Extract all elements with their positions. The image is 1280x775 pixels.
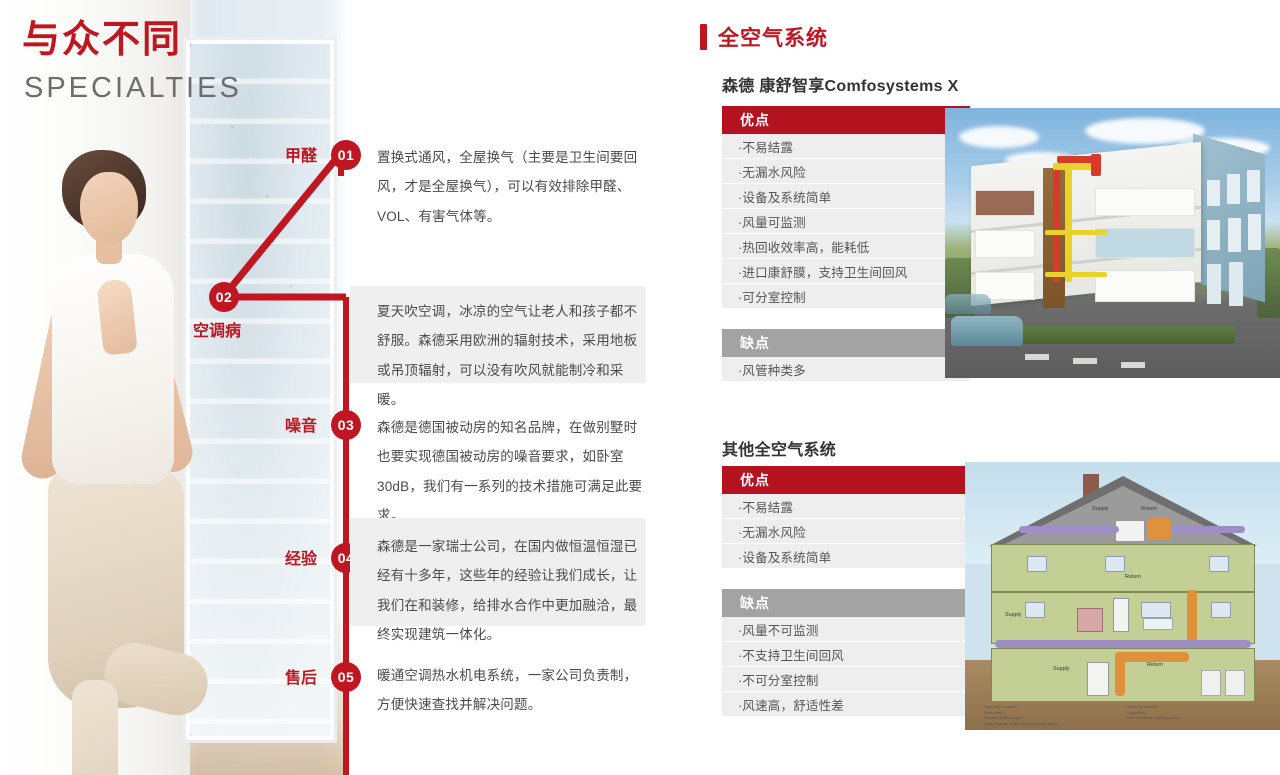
label-supply-attic: Supply — [1092, 506, 1108, 512]
parking-line — [1121, 362, 1145, 368]
section-title: 全空气系统 — [700, 22, 828, 52]
label-return-basement: Return — [1147, 662, 1163, 668]
page-title-zh: 与众不同 — [22, 20, 182, 62]
facade-window — [1227, 174, 1240, 204]
car — [951, 316, 1023, 346]
return-riser — [1187, 590, 1197, 644]
timeline-text-block-04: 森德是一家瑞士公司，在国内做恒温恒湿已经有十多年，这些年的经验让我们成长，让我们… — [350, 518, 645, 626]
cloud — [959, 126, 1039, 148]
building-cutaway-image — [945, 108, 1280, 378]
fireplace — [1077, 608, 1103, 632]
cons-header-1: 缺点 — [722, 329, 970, 357]
hedge — [1005, 326, 1235, 344]
sofa — [1143, 618, 1173, 630]
timeline-badge-02[interactable]: 02 — [209, 282, 239, 312]
pros-row: ·设备及系统简单 — [722, 184, 970, 209]
parking-line — [1073, 358, 1097, 364]
car — [945, 294, 991, 314]
left-pane: 与众不同 SPECIALTIES 01 甲醛 02 空调病 03 噪音 04 经… — [0, 0, 660, 775]
supply-duct — [1019, 526, 1119, 533]
parking-line — [1025, 354, 1049, 360]
label-supply-left: Supply — [1005, 612, 1021, 618]
pros-row: ·无漏水风险 — [722, 159, 970, 184]
pros-row: ·可分室控制 — [722, 284, 970, 309]
facade-window — [1207, 220, 1220, 250]
basement-supply-trunk — [995, 640, 1251, 648]
basement-return-trunk — [1115, 652, 1189, 662]
figure-leg — [72, 680, 118, 775]
facade-window — [1247, 170, 1260, 202]
timeline-label-01: 甲醛 — [285, 142, 317, 166]
timeline-text-block-01: 置换式通风，全屋换气（主要是卫生间要回风，才是全屋换气），可以有效排除甲醛、VO… — [350, 132, 645, 284]
window — [1209, 556, 1229, 572]
roof-unit — [1091, 154, 1101, 176]
pros-row: ·无漏水风险 — [722, 519, 968, 544]
room — [975, 230, 1035, 258]
exhaust-pipe-red — [1053, 170, 1060, 282]
right-pane: 全空气系统 森德 康舒智享Comfosystems X 优点 ·不易结露 ·无漏… — [660, 0, 1280, 775]
pros-row: ·不易结露 — [722, 134, 970, 159]
legend-column-left: Leaky duct connection Return leaks Furni… — [984, 705, 1119, 728]
pros-header-2: 优点 — [722, 466, 968, 494]
facade-window — [1207, 180, 1220, 206]
label-return-mid: Return — [1125, 574, 1141, 580]
timeline-label-04: 经验 — [285, 545, 317, 569]
table-other-systems: 优点 ·不易结露 ·无漏水风险 ·设备及系统简单 缺点 ·风量不可监测 ·不支持… — [722, 466, 968, 717]
cons-row: ·风管种类多 — [722, 357, 970, 382]
page-title-en: SPECIALTIES — [24, 72, 242, 105]
cons-row: ·风量不可监测 — [722, 617, 968, 642]
legend-column-right: Fallen duct insulation Supply leaks Kink… — [1127, 705, 1262, 728]
label-return-attic: Return — [1141, 506, 1157, 512]
appliance — [1201, 670, 1221, 696]
timeline-text-block-05: 暖通空调热水机电系统，一家公司负责制，方便快速查找并解决问题。 — [350, 655, 645, 725]
room — [975, 190, 1035, 216]
window — [1211, 602, 1231, 618]
air-handler-unit — [1115, 520, 1145, 542]
pros-row: ·热回收效率高，能耗低 — [722, 234, 970, 259]
timeline-text-block-03: 森德是德国被动房的知名品牌，在做别墅时也要实现德国被动房的噪音要求，如卧室30d… — [350, 402, 645, 506]
house-duct-diagram-image: Supply Return Return Supply Suppl — [965, 462, 1280, 730]
cons-row: ·不可分室控制 — [722, 667, 968, 692]
window — [1141, 602, 1171, 618]
window — [1105, 556, 1125, 572]
facade-window — [1229, 262, 1243, 306]
diagram-legend: Leaky duct connection Return leaks Furni… — [984, 705, 1261, 728]
room — [1095, 188, 1195, 216]
section-title-text: 全空气系统 — [718, 22, 828, 52]
table-gap — [722, 309, 970, 329]
timeline-label-05: 售后 — [285, 664, 317, 688]
pros-row: ·进口康舒膜，支持卫生间回风 — [722, 259, 970, 284]
window — [1025, 602, 1045, 618]
supply-branch — [1045, 272, 1107, 277]
appliance — [1225, 670, 1245, 696]
timeline-text-05: 暖通空调热水机电系统，一家公司负责制，方便快速查找并解决问题。 — [350, 655, 645, 720]
timeline-text-04: 森德是一家瑞士公司，在国内做恒温恒湿已经有十多年，这些年的经验让我们成长，让我们… — [350, 518, 645, 649]
pros-row: ·风量可监测 — [722, 209, 970, 234]
legend-item: Kinks in ductwork restricting airflow — [1127, 716, 1262, 722]
pros-row: ·设备及系统简单 — [722, 544, 968, 569]
timeline-text-02: 夏天吹空调，冰凉的空气让老人和孩子都不舒服。森德采用欧洲的辐射技术，采用地板或吊… — [350, 286, 645, 414]
timeline-label-03: 噪音 — [285, 412, 317, 436]
pros-header-1: 优点 — [722, 106, 970, 134]
window — [1027, 556, 1047, 572]
supply-branch — [1045, 230, 1107, 235]
timeline-text-01: 置换式通风，全屋换气（主要是卫生间要回风，才是全屋换气），可以有效排除甲醛、VO… — [350, 132, 645, 231]
table-gap — [722, 569, 968, 589]
accent-bar-icon — [700, 24, 707, 50]
timeline-text-03: 森德是德国被动房的知名品牌，在做别墅时也要实现德国被动房的噪音要求，如卧室30d… — [350, 402, 645, 530]
slide-root: 与众不同 SPECIALTIES 01 甲醛 02 空调病 03 噪音 04 经… — [0, 0, 1280, 775]
pros-row: ·不易结露 — [722, 494, 968, 519]
table-comfosystems: 优点 ·不易结露 ·无漏水风险 ·设备及系统简单 ·风量可监测 ·热回收效率高，… — [722, 106, 970, 382]
facade-window — [1248, 214, 1261, 250]
subtitle-other-systems: 其他全空气系统 — [722, 436, 836, 460]
cons-row: ·风速高，舒适性差 — [722, 692, 968, 717]
legend-item: Leaks at furnace & filter slot and duct … — [984, 722, 1119, 728]
cloud — [1085, 118, 1205, 144]
furnace — [1087, 662, 1109, 696]
timeline-text-block-02: 夏天吹空调，冰凉的空气让老人和孩子都不舒服。森德采用欧洲的辐射技术，采用地板或吊… — [350, 286, 645, 383]
label-supply-basement: Supply — [1053, 666, 1069, 672]
woman-figure — [18, 150, 248, 775]
yoga-photo — [0, 0, 348, 775]
facade-window — [1228, 218, 1241, 252]
room — [1095, 270, 1195, 302]
room — [1095, 228, 1195, 258]
subtitle-comfosystems: 森德 康舒智享Comfosystems X — [722, 72, 959, 96]
timeline-label-02: 空调病 — [193, 317, 241, 341]
door — [1113, 598, 1129, 632]
supply-pipe-yellow — [1065, 164, 1072, 282]
basement-return-riser — [1115, 652, 1125, 696]
cons-row: ·不支持卫生间回风 — [722, 642, 968, 667]
return-duct — [1147, 518, 1171, 540]
facade-window — [1207, 264, 1221, 304]
figure-head — [80, 172, 138, 244]
cons-header-2: 缺点 — [722, 589, 968, 617]
